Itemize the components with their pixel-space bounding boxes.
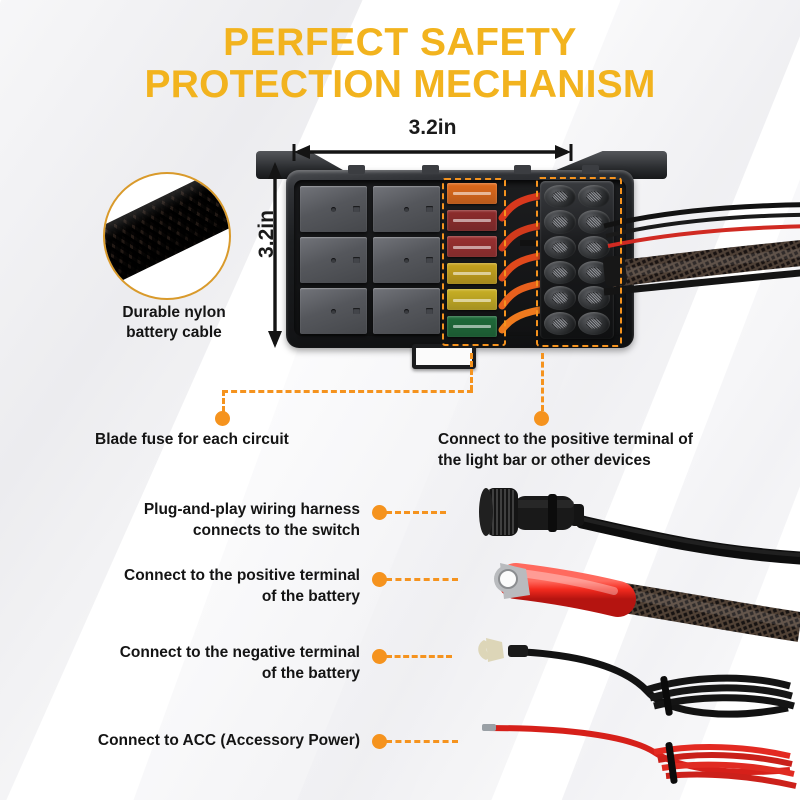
callout-dot-blade-fuse [215,411,230,426]
blade-fuse-highlight-box [442,178,506,346]
callout-positive-lightbar-line-1: Connect to the positive terminal of [438,430,768,451]
callout-dot-positive-lightbar [534,411,549,426]
callout-battery-negative-line-1: Connect to the negative terminal [110,643,360,664]
relay-block [300,186,367,232]
case-nub-4 [582,165,599,174]
braided-nylon-texture [103,172,231,289]
leader-battery-positive [386,578,458,581]
relay-block [300,237,367,283]
page-title: PERFECT SAFETY PROTECTION MECHANISM [0,22,800,106]
leader-wiring-harness [386,511,446,514]
inset-caption: Durable nylon battery cable [89,303,259,343]
enclosure-latch [412,344,476,369]
callout-wiring-harness-line-1: Plug-and-play wiring harness [110,500,360,521]
callout-acc-power-line-1: Connect to ACC (Accessory Power) [80,731,360,752]
case-nub-2 [422,165,439,174]
callout-battery-positive: Connect to the positive terminal of the … [110,566,360,607]
relay-block [373,237,440,283]
relay-block [300,288,367,334]
callout-blade-fuse-line-1: Blade fuse for each circuit [95,430,345,451]
case-nub-1 [348,165,365,174]
callout-blade-fuse: Blade fuse for each circuit [95,430,345,451]
callout-battery-positive-line-2: of the battery [110,587,360,608]
leader-terminal-vertical [541,353,544,411]
dimension-width: 3.2in [290,118,575,158]
callout-battery-negative-line-2: of the battery [110,664,360,685]
infographic-page: PERFECT SAFETY PROTECTION MECHANISM 3.2i… [0,0,800,800]
dimension-width-arrow [290,140,575,162]
inset-caption-line-2: battery cable [89,323,259,343]
title-line-1: PERFECT SAFETY [223,21,577,64]
leader-fuse-horizontal [222,390,473,393]
callout-acc-power: Connect to ACC (Accessory Power) [80,731,360,752]
relay-grid [300,186,440,334]
callout-dot-battery-positive [372,572,387,587]
relay-block [373,288,440,334]
product-fuse-relay-box [252,148,672,360]
callout-battery-positive-line-1: Connect to the positive terminal [110,566,360,587]
terminal-block-highlight-box [536,177,622,347]
inset-caption-line-1: Durable nylon [89,303,259,323]
callout-battery-negative: Connect to the negative terminal of the … [110,643,360,684]
dimension-height-arrow [262,160,288,350]
callout-wiring-harness-line-2: connects to the switch [110,521,360,542]
callout-positive-lightbar: Connect to the positive terminal of the … [438,430,768,471]
dimension-width-label: 3.2in [290,116,575,140]
inset-circle-frame [103,172,231,300]
leader-fuse-vertical-down [222,390,225,412]
callout-dot-wiring-harness [372,505,387,520]
leader-fuse-vertical-up [470,353,473,391]
callout-dot-acc-power [372,734,387,749]
leader-acc-power [386,740,458,743]
relay-block [373,186,440,232]
callout-dot-battery-negative [372,649,387,664]
nylon-cable-inset [103,172,231,300]
leader-battery-negative [386,655,452,658]
callout-positive-lightbar-line-2: the light bar or other devices [438,451,768,472]
callout-wiring-harness: Plug-and-play wiring harness connects to… [110,500,360,541]
output-cable-bundle [604,196,800,326]
part-red-acc-wire [478,710,800,800]
title-line-2: PROTECTION MECHANISM [0,64,800,106]
case-nub-3 [514,165,531,174]
